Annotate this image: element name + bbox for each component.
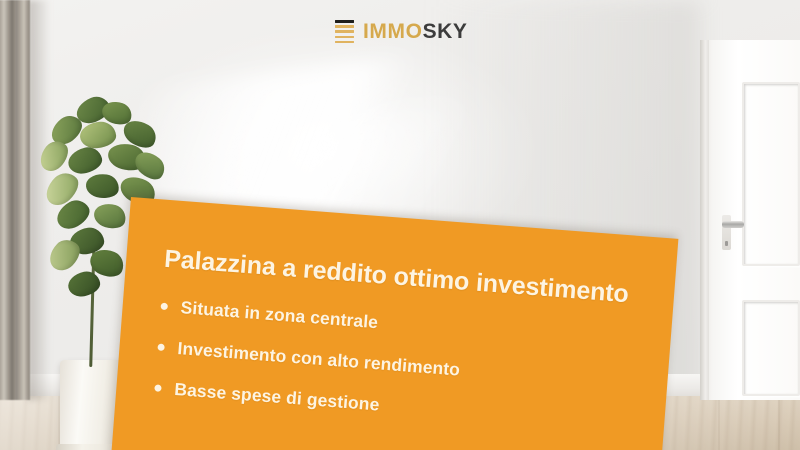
bullet-dot-icon — [157, 343, 165, 351]
logo-bar-dark — [335, 20, 354, 23]
feature-bullet-list: Situata in zona centrale Investimento co… — [152, 296, 650, 450]
plant-leaf — [65, 144, 104, 176]
plant-leaf — [91, 200, 128, 232]
plant-leaf — [79, 120, 117, 149]
logo-bar-gold — [335, 30, 354, 33]
logo-bar-gold — [335, 25, 354, 28]
logo-bar-gold — [335, 36, 354, 39]
window-curtain — [0, 0, 30, 400]
list-item-label: Situata in zona centrale — [180, 297, 379, 333]
logo-wordmark: IMMOSKY — [363, 21, 468, 42]
property-listing-banner: IMMOSKY Palazzina a reddito ottimo inves… — [0, 0, 800, 450]
bullet-dot-icon — [154, 384, 162, 392]
bullet-dot-icon — [160, 303, 168, 311]
list-item-label: Investimento con alto rendimento — [177, 338, 461, 381]
door-panel-lower — [742, 300, 800, 396]
door-handle — [722, 221, 744, 228]
panel-content: Palazzina a reddito ottimo investimento … — [108, 197, 678, 450]
door-panel-upper — [742, 82, 800, 266]
list-item-label: Basse spese di gestione — [174, 379, 381, 416]
door-keyhole-icon — [725, 241, 728, 246]
logo-bar-gold — [335, 41, 354, 44]
door-jamb — [700, 40, 709, 400]
plant-leaf — [84, 172, 120, 200]
logo-bars-icon — [335, 19, 354, 43]
immosky-logo[interactable]: IMMOSKY — [335, 19, 468, 43]
logo-wordmark-sky: SKY — [423, 20, 468, 43]
plant-leaf — [66, 269, 102, 299]
logo-wordmark-immo: IMMO — [363, 20, 423, 43]
